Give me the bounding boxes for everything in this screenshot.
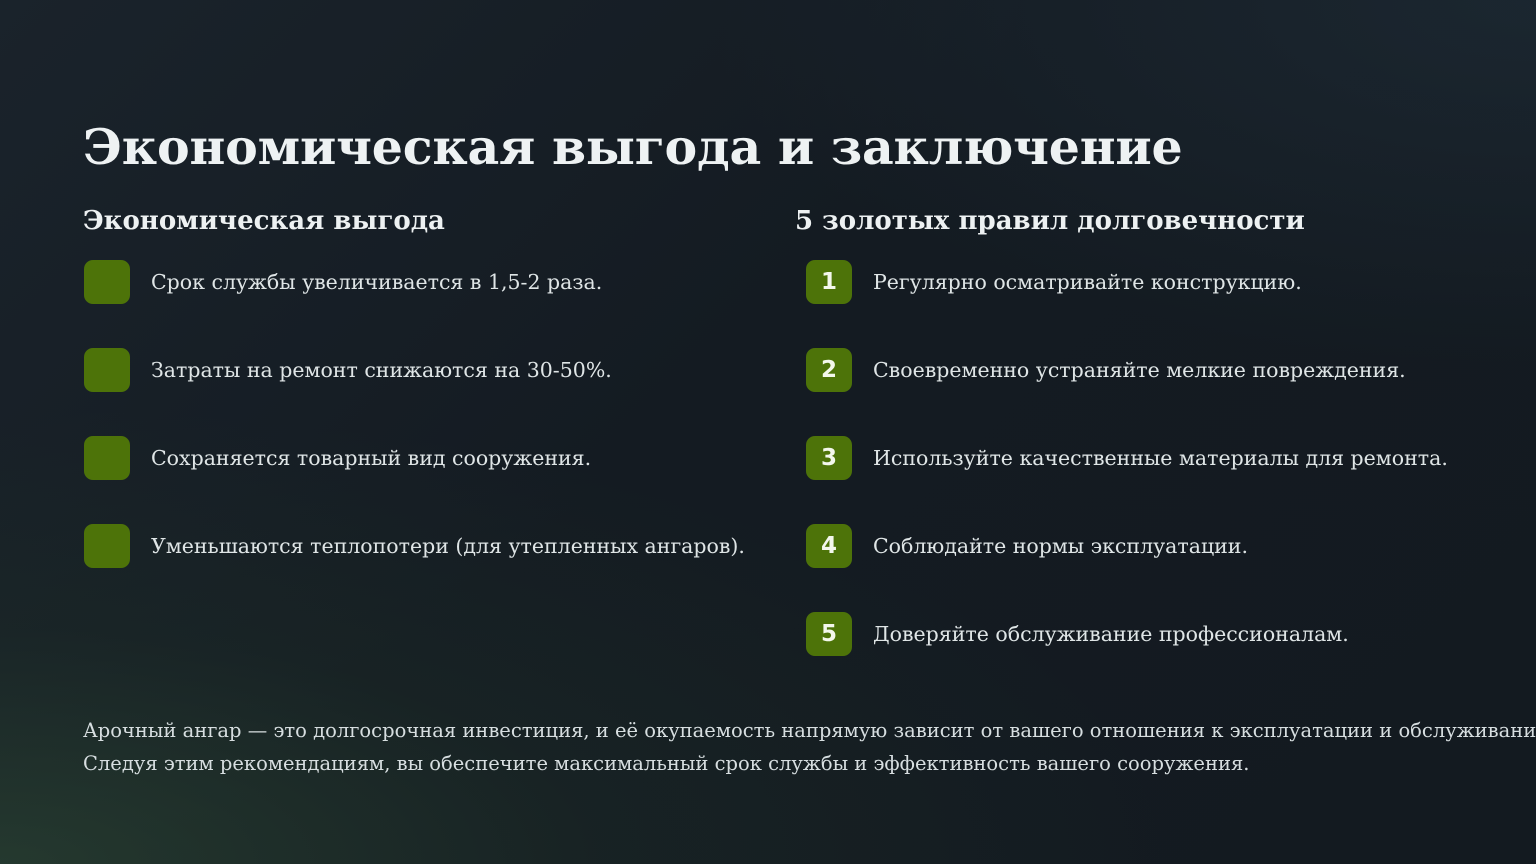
list-item-label: Уменьшаются теплопотери (для утепленных … [151, 532, 745, 560]
list-item: 4 Соблюдайте нормы эксплуатации. [795, 524, 1507, 568]
page-title: Экономическая выгода и заключение [83, 117, 1183, 177]
two-column-layout: Экономическая выгода Срок службы увеличи… [83, 204, 1453, 656]
conclusion-line-2: Следуя этим рекомендациям, вы обеспечите… [83, 747, 1453, 780]
list-item: Сохраняется товарный вид сооружения. [83, 436, 795, 480]
list-item-label: Доверяйте обслуживание профессионалам. [873, 620, 1349, 648]
list-item-label: Соблюдайте нормы эксплуатации. [873, 532, 1248, 560]
list-item-label: Используйте качественные материалы для р… [873, 444, 1448, 472]
green-square-bullet-icon [84, 436, 130, 480]
slide-content: Экономическая выгода и заключение Эконом… [83, 0, 1453, 864]
golden-rules-column: 5 золотых правил долговечности 1 Регуляр… [795, 204, 1507, 656]
green-square-bullet-icon [84, 260, 130, 304]
list-item: 2 Своевременно устраняйте мелкие поврежд… [795, 348, 1507, 392]
green-square-bullet-icon [84, 524, 130, 568]
list-item: Уменьшаются теплопотери (для утепленных … [83, 524, 795, 568]
list-item-label: Затраты на ремонт снижаются на 30-50%. [151, 356, 612, 384]
list-item: Срок службы увеличивается в 1,5-2 раза. [83, 260, 795, 304]
list-item-label: Срок службы увеличивается в 1,5-2 раза. [151, 268, 602, 296]
economic-benefit-column: Экономическая выгода Срок службы увеличи… [83, 204, 795, 656]
rule-number-badge: 5 [806, 612, 852, 656]
list-item: 5 Доверяйте обслуживание профессионалам. [795, 612, 1507, 656]
list-item-label: Сохраняется товарный вид сооружения. [151, 444, 591, 472]
rule-number-badge: 2 [806, 348, 852, 392]
rule-number-badge: 4 [806, 524, 852, 568]
green-square-bullet-icon [84, 348, 130, 392]
list-item: 1 Регулярно осматривайте конструкцию. [795, 260, 1507, 304]
economic-benefit-list: Срок службы увеличивается в 1,5-2 раза. … [83, 260, 795, 568]
conclusion-line-1: Арочный ангар — это долгосрочная инвести… [83, 714, 1453, 747]
list-item: Затраты на ремонт снижаются на 30-50%. [83, 348, 795, 392]
golden-rules-heading: 5 золотых правил долговечности [795, 204, 1507, 238]
rule-number-badge: 1 [806, 260, 852, 304]
rule-number-badge: 3 [806, 436, 852, 480]
economic-benefit-heading: Экономическая выгода [83, 204, 795, 238]
golden-rules-list: 1 Регулярно осматривайте конструкцию. 2 … [795, 260, 1507, 656]
list-item: 3 Используйте качественные материалы для… [795, 436, 1507, 480]
slide-root: Экономическая выгода и заключение Эконом… [0, 0, 1536, 864]
list-item-label: Регулярно осматривайте конструкцию. [873, 268, 1302, 296]
conclusion-note: Арочный ангар — это долгосрочная инвести… [83, 714, 1453, 780]
list-item-label: Своевременно устраняйте мелкие поврежден… [873, 356, 1406, 384]
